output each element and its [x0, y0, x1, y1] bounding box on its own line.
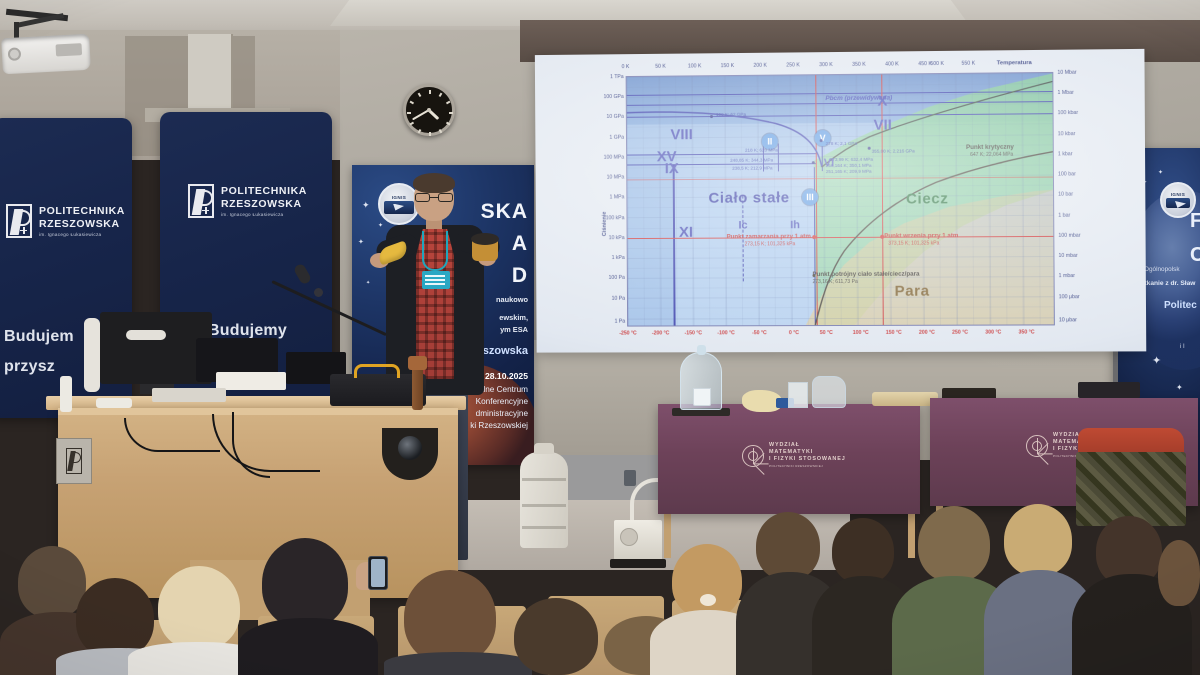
keypoint-freezing-title: Punkt zamarzania przy 1 atm — [727, 233, 811, 240]
x-tick-bottom-12: 350 °C — [1019, 329, 1035, 335]
annotation-251k-209mpa: 251,165 K; 209,9 MPa — [826, 169, 872, 174]
audience-head — [76, 578, 154, 658]
x-tick-bottom-1: -200 °C — [652, 330, 670, 336]
banner-right-subtitle: im. Ignacego Łukasiewicza — [221, 212, 307, 217]
side-banner-headline-2: C — [1190, 244, 1200, 267]
y-tick-right-8: 100 mbar — [1058, 233, 1080, 239]
y-tick-left-3: 1 GPa — [592, 135, 624, 141]
x-tick-bottom-10: 250 °C — [952, 330, 968, 336]
case-handle[interactable] — [354, 364, 400, 378]
slogan-left-line1: Budujem — [4, 326, 74, 348]
annotation-273k-632mpa: 273,99 K; 632,4 MPa — [830, 157, 873, 162]
region-label-solid: Ciało stałe — [708, 189, 789, 206]
audience-head — [1158, 540, 1200, 606]
y-tick-left-2: 10 GPa — [592, 114, 624, 120]
annotation-248k-344mpa: 248,85 K; 344,3 MPa — [730, 157, 773, 162]
y-tick-right-4: 1 kbar — [1058, 151, 1073, 157]
keypoint-triple-sub: 273,16 K; 611,73 Pa — [813, 279, 858, 285]
politechnika-rzeszowska-logo-icon — [188, 184, 214, 218]
beaker-inside-jar — [693, 388, 711, 406]
keypoint-freezing-sub: 273,15 K; 101,325 kPa — [745, 241, 796, 247]
wall-alcove — [188, 34, 233, 114]
x-tick-bottom-9: 200 °C — [919, 330, 935, 336]
phase-label-vii: VII — [873, 117, 891, 134]
audience-head — [514, 598, 598, 675]
faculty-star-wheel-logo-icon — [742, 445, 764, 467]
x-tick-top-2: 100 K — [688, 63, 701, 69]
camera-lens-icon — [398, 436, 422, 460]
y-tick-right-10: 1 mbar — [1059, 273, 1075, 279]
annotation-355k-2.216gpa: 355,00 K; 2,216 GPa — [872, 148, 915, 153]
monitor-pole — [84, 318, 100, 392]
politechnika-rzeszowska-logo-icon — [6, 204, 32, 238]
lecture-hall-photo: POLITECHNIKARZESZOWSKA im. Ignacego Łuka… — [0, 0, 1200, 675]
y-tick-right-6: 10 bar — [1058, 192, 1073, 198]
y-tick-left-10: 100 Pa — [591, 275, 625, 281]
x-tick-bottom-2: -150 °C — [685, 330, 703, 336]
phase-label-ix: IX — [665, 160, 679, 177]
tablecloth-2-line3: I FIZYKI — [1053, 446, 1080, 452]
demo-table-left: WYDZIAŁ MATEMATYKI I FIZYKI STOSOWANEJ P… — [658, 404, 920, 514]
tablecloth-1-line2: MATEMATYKI — [769, 449, 813, 455]
x-tick-top-3: 150 K — [721, 63, 735, 69]
coffee-cup-prop — [472, 239, 498, 261]
y-tick-right-3: 10 kbar — [1058, 131, 1076, 137]
pump-motor — [620, 528, 638, 546]
keypoint-triple-title: Punkt potrójny ciało stałe/ciecz/para — [812, 271, 919, 278]
projection-screen: Temperatura 0 K 50 K 100 K 150 K 200 K 2… — [535, 49, 1146, 353]
y-tick-left-11: 10 Pa — [591, 296, 625, 302]
y-tick-left-7: 100 kPa — [591, 215, 625, 221]
tablecloth-1-line4: POLITECHNIKI RZESZOWSKIEJ — [769, 464, 823, 468]
y-tick-right-9: 10 mbar — [1058, 253, 1077, 259]
phase-badge-iii: III — [802, 189, 818, 205]
keyboard[interactable] — [152, 388, 226, 402]
x-tick-bottom-7: 100 °C — [853, 330, 869, 336]
tablecloth-1-line3: I FIZYKI STOSOWANEJ — [769, 456, 846, 462]
y-tick-left-9: 1 kPa — [591, 255, 625, 261]
region-label-vapour: Para — [895, 283, 930, 300]
lanyard — [422, 231, 448, 271]
predicted-phase-label: Pbcm (przewidywana) — [825, 95, 892, 103]
y-tick-right-5: 100 bar — [1058, 171, 1076, 177]
x-tick-top-0: 0 K — [622, 64, 630, 70]
smartphone[interactable] — [368, 556, 388, 590]
mallet-tool — [412, 366, 423, 410]
x-tick-top-5: 250 K — [786, 62, 800, 68]
microphone-head-icon — [293, 263, 313, 286]
tablecloth-1-line1: WYDZIAŁ — [769, 442, 800, 448]
rotary-vacuum-pump — [614, 520, 662, 560]
politechnika-rzeszowska-logo-icon — [66, 448, 82, 474]
bell-jar-knob — [697, 345, 706, 355]
x-axis-title: Temperatura — [997, 60, 1032, 66]
x-tick-top-8: 400 K — [885, 61, 899, 67]
y-tick-left-4: 100 MPa — [591, 155, 625, 161]
wall-clock — [403, 84, 455, 136]
x-tick-top-10: 500 K — [930, 61, 944, 67]
conference-title-2: A — [512, 233, 528, 254]
audience-head — [404, 570, 496, 664]
x-tick-bottom-4: -50 °C — [752, 330, 767, 336]
x-tick-top-4: 200 K — [753, 63, 767, 69]
projector-mount — [6, 8, 76, 38]
audience-head — [672, 544, 742, 618]
vacuum-bell-jar — [680, 352, 722, 410]
y-tick-right-12: 10 μbar — [1059, 317, 1077, 323]
plastic-bag — [812, 376, 846, 408]
phase-label-viii: VIII — [670, 126, 692, 143]
phase-boundary-curves — [627, 73, 1055, 327]
beaker — [788, 382, 808, 408]
books-stack — [1078, 382, 1140, 398]
eyeglasses-icon — [415, 193, 453, 202]
faculty-star-wheel-logo-icon — [1026, 435, 1048, 457]
y-tick-right-0: 10 Mbar — [1057, 70, 1076, 76]
region-label-liquid: Ciecz — [906, 190, 948, 207]
annotation-238k-212mpa: 238,5 K; 212,9 MPa — [732, 165, 772, 170]
conference-line-science: naukowo — [496, 295, 528, 304]
side-banner-badge-text: IGNIS — [1171, 192, 1186, 197]
banner-left-name-1: POLITECHNIKA — [39, 205, 125, 217]
liquid-nitrogen-dewar — [520, 452, 568, 548]
y-tick-right-1: 1 Mbar — [1057, 90, 1073, 96]
y-axis-title: Ciśnienie — [602, 177, 608, 237]
hair-scrunchie — [700, 594, 716, 606]
y-tick-left-5: 10 MPa — [591, 174, 625, 180]
audience-head — [832, 518, 894, 584]
x-tick-bottom-8: 150 °C — [886, 330, 902, 336]
audience-head — [756, 512, 820, 580]
projector-vent — [56, 43, 83, 56]
dewar-cap — [534, 443, 554, 454]
conference-line-guest: ewskim, — [499, 313, 528, 322]
lectern-logo-plate — [56, 438, 92, 484]
audience-head — [1004, 504, 1072, 576]
keypoint-boiling-title: Punkt wrzenia przy 1 atm — [884, 232, 958, 239]
y-tick-right-7: 1 bar — [1058, 213, 1070, 219]
side-banner-subtitle-1: Ogólnopolsk — [1144, 266, 1180, 273]
x-tick-top-11: 550 K — [961, 61, 975, 67]
keypoint-boiling-sub: 373,15 K; 101,325 kPa — [888, 240, 939, 246]
y-tick-right-11: 100 μbar — [1059, 294, 1080, 300]
phase-diagram: Temperatura 0 K 50 K 100 K 150 K 200 K 2… — [535, 49, 1146, 353]
support-pipe — [96, 398, 132, 408]
y-tick-left-0: 1 TPa — [596, 74, 624, 80]
y-tick-right-2: 100 kbar — [1058, 110, 1078, 116]
side-banner-headline-1: F — [1190, 210, 1200, 233]
slogan-left-line2: przysz — [4, 356, 55, 378]
x-tick-top-6: 300 K — [819, 62, 833, 68]
phase-label-xi: XI — [679, 224, 693, 241]
audience-shoulders — [384, 652, 532, 675]
side-banner-organizer: Politec — [1164, 300, 1197, 311]
conference-title-3: D — [512, 265, 528, 286]
y-tick-left-12: 1 Pa — [592, 319, 626, 325]
vacuum-valve — [624, 470, 636, 486]
side-banner-footer: i I — [1180, 344, 1185, 350]
desk-white-device — [216, 372, 286, 390]
x-tick-bottom-3: -100 °C — [717, 330, 735, 336]
audience-head — [18, 546, 86, 618]
plot-area: VIII XV IX XI VII X VI Ic Ih II V III Ci… — [626, 72, 1055, 327]
x-tick-bottom-6: 50 °C — [820, 330, 833, 336]
audience-shoulders — [238, 618, 378, 675]
phase-label-ic: Ic — [738, 220, 747, 232]
ceiling-projector — [1, 34, 91, 75]
audience-head — [262, 538, 348, 628]
annotation-218k-620mpa: 218 K; 620 MPa — [745, 147, 778, 152]
conference-line-esa: ym ESA — [500, 325, 528, 334]
banner-left-name-2: RZESZOWSKA — [39, 218, 120, 230]
monitor-arm — [126, 330, 166, 340]
wooden-board — [872, 392, 938, 406]
audience-head — [918, 506, 990, 582]
x-tick-top-7: 350 K — [852, 62, 866, 68]
support-pipe — [60, 376, 72, 412]
annotation-278k-2.1gpa: 278 K; 2,1 GPa — [826, 141, 857, 146]
keypoint-critical-title: Punkt krytyczny — [966, 144, 1014, 151]
phase-label-ih: Ih — [790, 219, 800, 231]
y-tick-left-8: 10 kPa — [591, 235, 625, 241]
audience-head — [158, 566, 240, 650]
y-tick-left-1: 100 GPa — [592, 94, 624, 100]
projector-lens-icon — [8, 47, 22, 61]
banner-right-name-2: RZESZOWSKA — [221, 198, 302, 210]
annotation-100k-62gpa: 100 K; 62 GPa — [716, 112, 746, 117]
keypoint-critical-sub: 647 K; 22,064 MPa — [970, 152, 1013, 158]
x-tick-bottom-0: -250 °C — [619, 331, 636, 337]
y-tick-left-6: 1 MPa — [591, 194, 625, 200]
annotation-256k-350mpa: 256,164 K; 350,1 MPa — [826, 163, 872, 168]
x-tick-bottom-11: 300 °C — [985, 330, 1001, 336]
conference-lanyard-badge — [422, 271, 450, 289]
banner-left-subtitle: im. Ignacego Łukasiewicza — [39, 232, 125, 237]
x-tick-bottom-5: 0 °C — [789, 330, 799, 336]
camouflage-case — [1076, 452, 1186, 526]
x-tick-top-1: 50 K — [655, 64, 666, 70]
banner-right-name-1: POLITECHNIKA — [221, 185, 307, 197]
